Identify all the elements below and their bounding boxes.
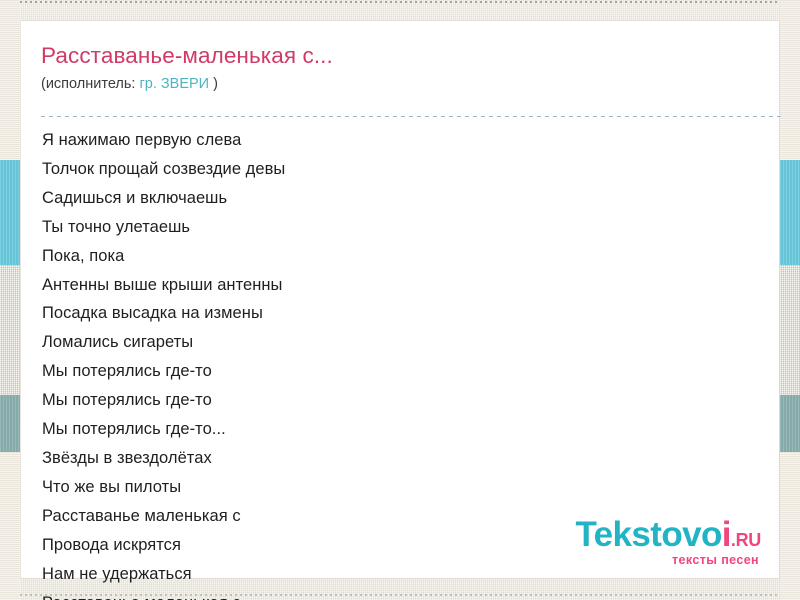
lyric-line: Садишься и включаешь [42,184,763,213]
lyric-line: Ломались сигареты [42,328,763,357]
artist-byline: (исполнитель: гр. ЗВЕРИ ) [41,76,761,92]
logo-tld: .RU [731,530,761,550]
logo-name-part1: Tekstovo [576,515,722,554]
stripe-segment-cream-top [780,0,800,160]
lyrics-card: Расставанье-маленькая с... (исполнитель:… [21,21,779,578]
stripe-segment-texture [780,265,800,395]
card-header: Расставанье-маленькая с... (исполнитель:… [41,43,761,92]
lyric-line: Мы потерялись где-то [42,357,763,386]
site-logo-wordmark: Tekstovoi.RU [576,517,762,552]
top-dotted-rule [0,1,800,3]
stripe-segment-cream-top [0,0,20,160]
lyric-line: Пока, пока [42,242,763,271]
lyric-line: Мы потерялись где-то [42,386,763,415]
lyric-line: Ты точно улетаешь [42,213,763,242]
stripe-segment-texture [0,265,20,395]
stripe-segment-cream-bottom [0,452,20,600]
lyric-line: Что же вы пилоты [42,473,763,502]
lyric-line: Звёзды в звездолётах [42,444,763,473]
site-logo-tagline: тексты песен [576,554,760,567]
lyric-line: Мы потерялись где-то... [42,415,763,444]
byline-prefix-label: (исполнитель: [41,76,135,92]
header-divider [41,116,781,117]
lyric-line: Я нажимаю первую слева [42,126,763,155]
lyric-line: Толчок прощай созвездие девы [42,155,763,184]
stripe-segment-slate [780,395,800,452]
site-logo[interactable]: Tekstovoi.RU тексты песен [576,517,762,567]
byline-suffix-label: ) [213,76,218,92]
page-title: Расставанье-маленькая с... [41,43,761,69]
stripe-segment-aqua [0,160,20,265]
artist-link[interactable]: гр. ЗВЕРИ [139,76,209,92]
lyric-line: Расставанье маленькая с [42,589,763,600]
stripe-segment-cream-bottom [780,452,800,600]
stripe-segment-slate [0,395,20,452]
lyric-line: Антенны выше крыши антенны [42,271,763,300]
lyric-line: Посадка высадка на измены [42,299,763,328]
logo-name-part2: i [722,515,731,554]
stripe-segment-aqua [780,160,800,265]
